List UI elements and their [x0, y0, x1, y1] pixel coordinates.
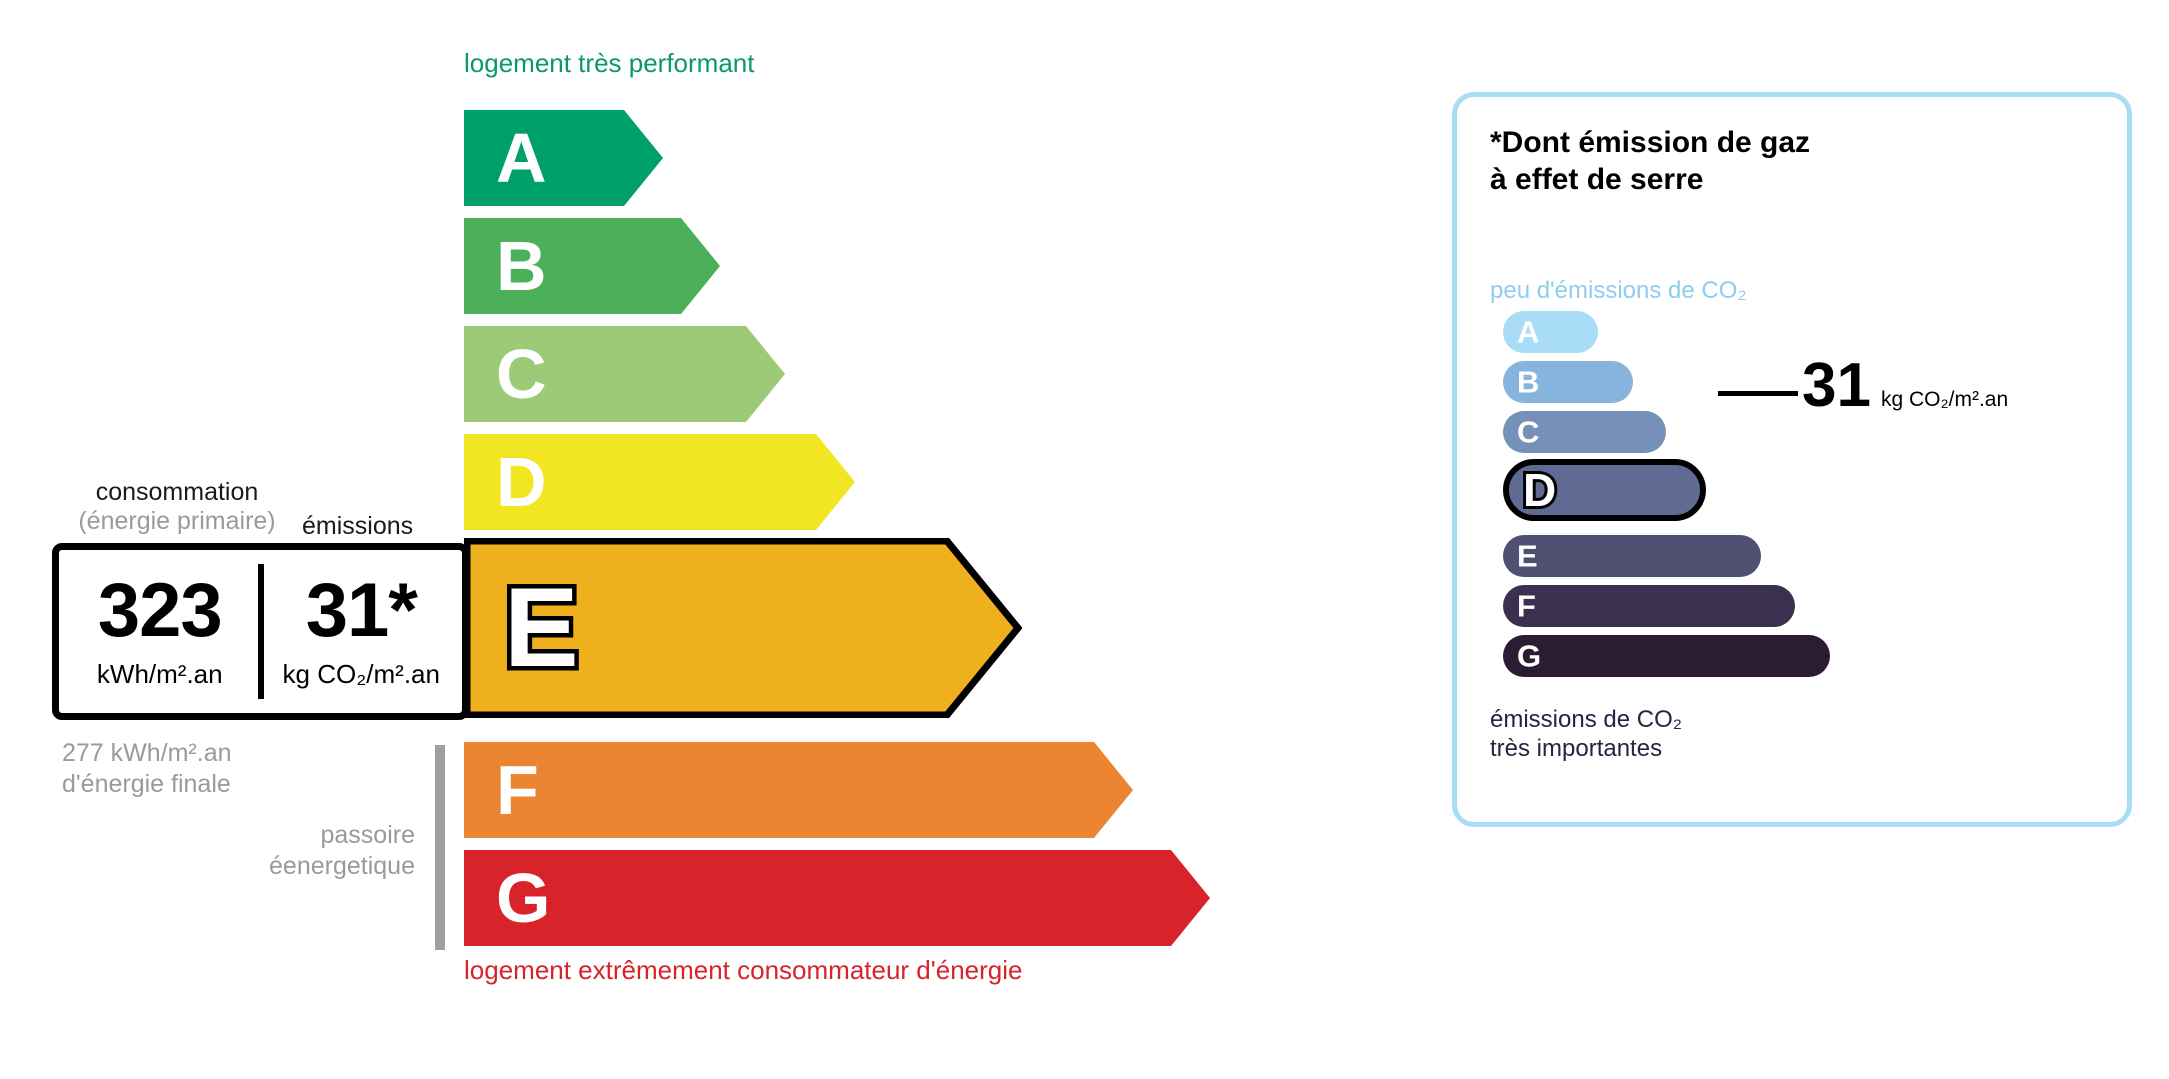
ges-bottom-caption: émissions de CO₂très importantes	[1490, 705, 1682, 764]
passoire-bracket	[435, 745, 445, 950]
final-energy-label: 277 kWh/m².and'énergie finale	[62, 738, 232, 801]
energy-band-a: A	[464, 110, 663, 206]
ges-bar-b-letter: B	[1517, 367, 1539, 398]
ges-leader-line	[1718, 391, 1798, 396]
passoire-energetique-label: passoireéenergetique	[160, 820, 415, 883]
ges-value: 31	[1802, 355, 1871, 417]
ges-panel: *Dont émission de gazà effet de serre pe…	[1452, 92, 2132, 827]
energy-bottom-caption: logement extrêmement consommateur d'éner…	[464, 955, 1022, 986]
energy-band-b-letter: B	[496, 231, 547, 301]
dpe-ges-figure: logement très performant A B C	[0, 0, 2169, 1079]
ges-bar-f: F	[1503, 585, 1795, 627]
ges-bar-g-letter: G	[1517, 641, 1541, 672]
ges-bar-a: A	[1503, 311, 1598, 353]
ges-bar-d-selected: D	[1503, 459, 1706, 521]
energy-band-e-selected: E	[464, 538, 1022, 718]
energy-band-d: D	[464, 434, 855, 530]
band-g-arrow	[464, 850, 1210, 946]
energy-band-g-letter: G	[496, 863, 550, 933]
energy-band-a-letter: A	[496, 123, 547, 193]
co2-unit: kg CO₂/m².an	[283, 659, 440, 690]
ges-top-caption: peu d'émissions de CO₂	[1490, 277, 1747, 305]
readout-energy: 323 kWh/m².an	[59, 550, 261, 713]
energy-band-f: F	[464, 742, 1133, 838]
energy-top-caption: logement très performant	[464, 48, 754, 79]
energy-band-c: C	[464, 326, 785, 422]
ges-unit: kg CO₂/m².an	[1881, 388, 2008, 412]
energy-unit: kWh/m².an	[97, 659, 223, 690]
band-a-arrow	[464, 110, 663, 206]
ges-bar-c: C	[1503, 411, 1666, 453]
energy-value: 323	[98, 573, 222, 649]
consumption-label-group: consommation (énergie primaire)	[62, 478, 292, 536]
ges-bar-c-letter: C	[1517, 417, 1539, 448]
ges-panel-title: *Dont émission de gazà effet de serre	[1490, 125, 1810, 198]
ges-bar-g: G	[1503, 635, 1830, 677]
ges-bar-a-letter: A	[1517, 317, 1539, 348]
energy-band-d-letter: D	[496, 447, 547, 517]
readout-co2: 31* kg CO₂/m².an	[261, 550, 463, 713]
consumption-sublabel: (énergie primaire)	[62, 507, 292, 536]
energy-band-e-letter: E	[504, 572, 579, 684]
co2-value: 31*	[306, 573, 417, 649]
dpe-readout-box: 323 kWh/m².an 31* kg CO₂/m².an	[52, 543, 469, 720]
consumption-label: consommation	[96, 478, 259, 506]
ges-value-group: 31 kg CO₂/m².an	[1802, 355, 2008, 417]
ges-bar-d-letter: D	[1523, 467, 1556, 513]
emissions-label: émissions	[302, 512, 413, 541]
energy-band-f-letter: F	[496, 755, 539, 825]
ges-bar-b: B	[1503, 361, 1633, 403]
energy-performance-chart: logement très performant A B C	[0, 0, 1380, 1079]
ges-bar-f-letter: F	[1517, 591, 1536, 622]
energy-band-c-letter: C	[496, 339, 547, 409]
ges-bar-e-letter: E	[1517, 541, 1538, 572]
energy-band-b: B	[464, 218, 720, 314]
ges-bar-e: E	[1503, 535, 1761, 577]
band-f-arrow	[464, 742, 1133, 838]
energy-band-g: G	[464, 850, 1210, 946]
